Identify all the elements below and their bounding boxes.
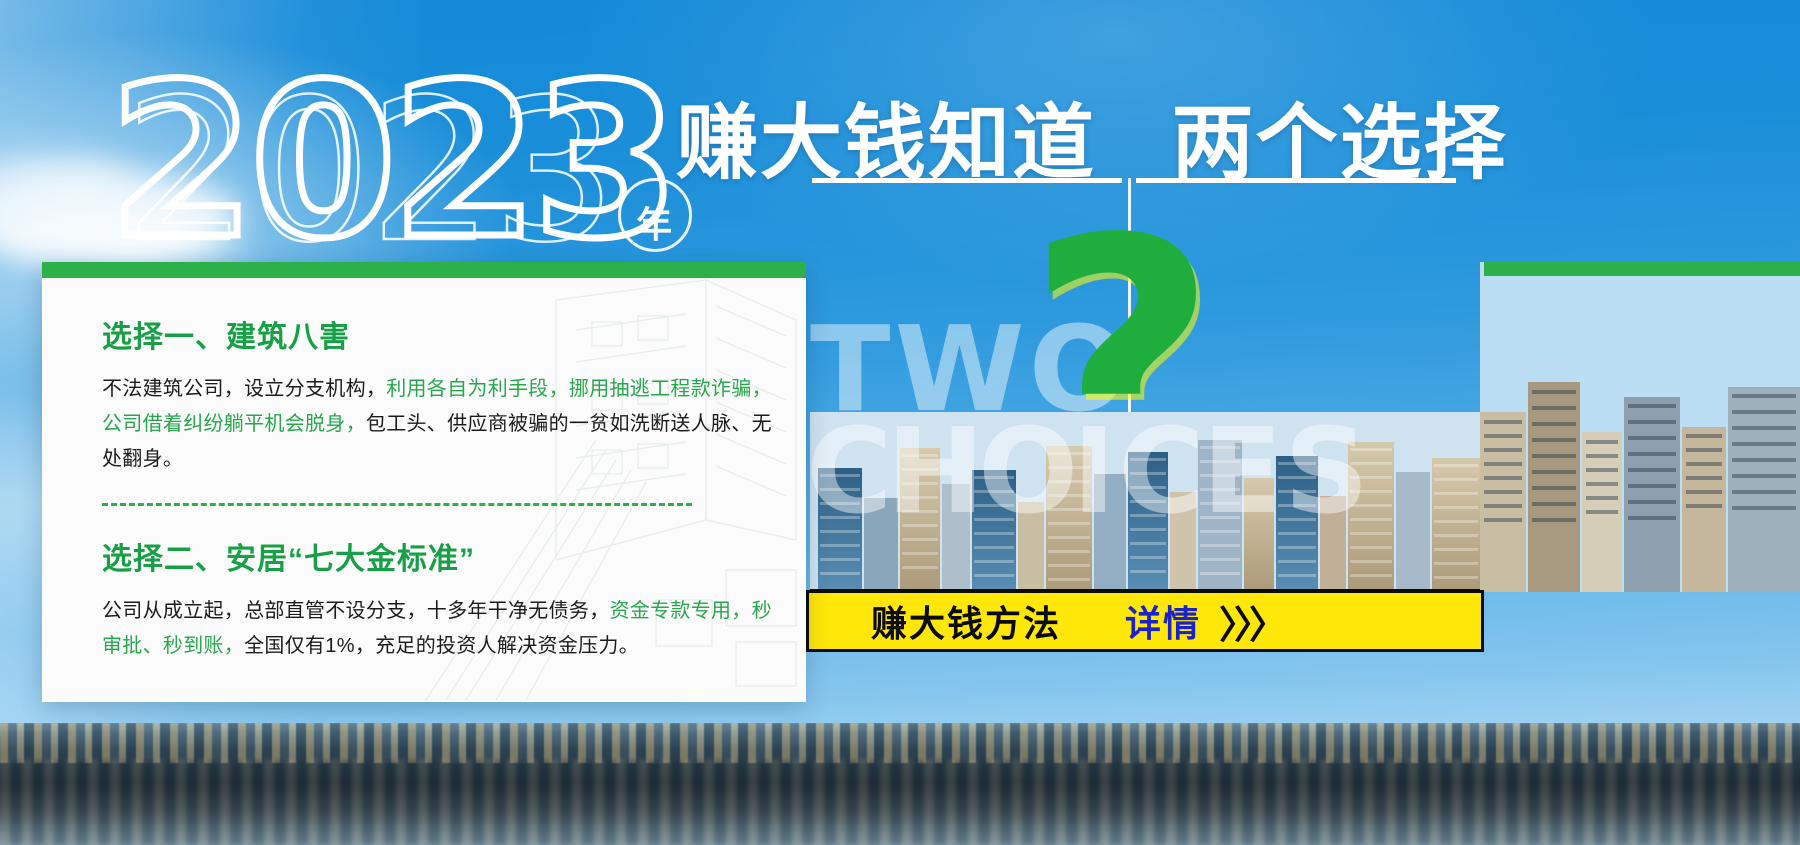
text-run-highlight: 资金专款专 (610, 600, 712, 622)
cta-button[interactable]: 赚大钱方法 详情 〉〉〉 (806, 590, 1484, 652)
city-skyline-photo: CHO ICE S (810, 412, 1480, 594)
section-two-body: 公司从成立起，总部直管不设分支，十多年干净无债务，资金专款专用，秒审批、秒到账，… (102, 594, 774, 664)
card-body: 选择一、建筑八害 不法建筑公司，设立分支机构，利用各自为利手段，挪用抽逃工程款诈… (102, 312, 782, 664)
section-two-title: 选择二、安居“七大金标准” (102, 534, 782, 578)
svg-text:C: C (1118, 412, 1205, 540)
right-green-accent-bar (1484, 262, 1800, 276)
text-run: 全国仅有1%，充足的投资人解决资金压力。 (244, 635, 639, 657)
headline-part-2: 两个选择 (1172, 98, 1508, 189)
section-one-title: 选择一、建筑八害 (102, 312, 782, 356)
section-one: 选择一、建筑八害 不法建筑公司，设立分支机构，利用各自为利手段，挪用抽逃工程款诈… (102, 312, 782, 477)
city-skyline-svg: CHO ICE S (810, 412, 1480, 594)
cta-secondary-label: 详情 (1125, 595, 1201, 647)
svg-text:H: H (886, 412, 985, 540)
cta-primary-label: 赚大钱方法 (871, 595, 1061, 647)
buildings-svg (1480, 262, 1800, 592)
section-divider (102, 503, 692, 506)
year-number-ghost: 2023 (124, 72, 615, 272)
svg-text:O: O (978, 412, 1078, 540)
text-run: 不法建筑公司，设立分支机构， (102, 378, 386, 400)
svg-text:S: S (1284, 412, 1369, 540)
svg-text:C: C (810, 412, 893, 540)
year-suffix-label: 年 (636, 196, 672, 248)
water-reflection (0, 787, 1800, 845)
right-edge-buildings-photo (1480, 262, 1800, 592)
poster-stage: 2023 2023 年 赚大钱知道 两个选择 TWO CHOICES ? (0, 0, 1800, 845)
text-run-highlight: 利用各自为利手段，挪用抽逃工程款 (386, 378, 711, 400)
section-one-body: 不法建筑公司，设立分支机构，利用各自为利手段，挪用抽逃工程款诈骗，公司借着纠纷躺… (102, 372, 774, 477)
content-card: 选择一、建筑八害 不法建筑公司，设立分支机构，利用各自为利手段，挪用抽逃工程款诈… (42, 262, 806, 702)
svg-text:E: E (1202, 412, 1283, 540)
chevron-right-icon: 〉〉〉 (1219, 594, 1283, 649)
section-two: 选择二、安居“七大金标准” 公司从成立起，总部直管不设分支，十多年干净无债务，资… (102, 534, 782, 664)
text-run: 包工头、供应商被骗的一贫如洗 (366, 413, 650, 435)
svg-text:I: I (1072, 412, 1116, 540)
bottom-photo-strip (0, 723, 1800, 845)
text-run: 公司从成立起，总部直管不设分支，十多年干净无债务， (102, 600, 610, 622)
